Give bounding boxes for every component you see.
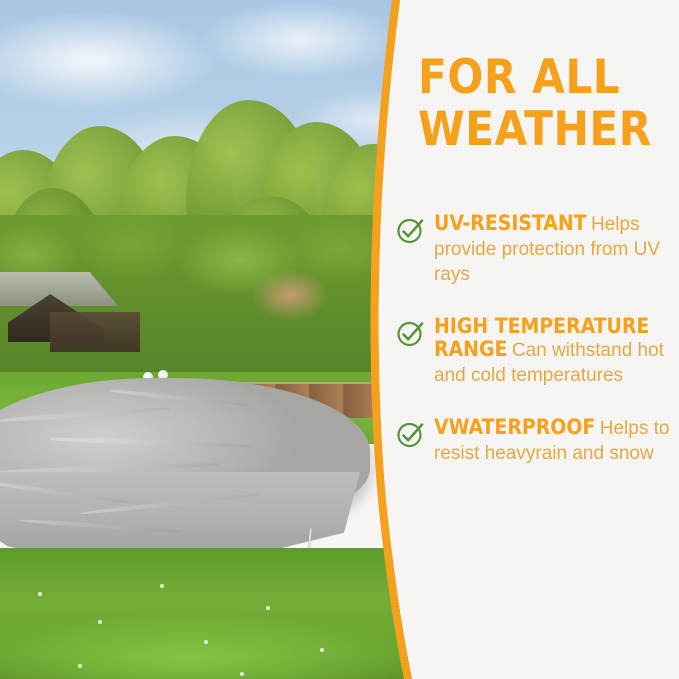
list-item: VWATERPROOF Helps to resist heavyrain an… [396, 416, 679, 466]
headline-line-1: FOR ALL [418, 52, 670, 104]
feature-title: UV-RESISTANT [434, 211, 587, 235]
product-photo [0, 0, 420, 679]
headline-line-2: WEATHER [418, 104, 670, 156]
feature-text: HIGH TEMPERATURE RANGE Can withstand hot… [434, 315, 679, 388]
promo-banner: FOR ALL WEATHER UV-RESISTANT Helps provi… [0, 0, 679, 679]
content-panel: FOR ALL WEATHER UV-RESISTANT Helps provi… [388, 0, 679, 679]
list-item: HIGH TEMPERATURE RANGE Can withstand hot… [396, 315, 679, 388]
check-circle-icon [396, 318, 426, 348]
check-circle-icon [396, 419, 426, 449]
lower-lawn [0, 548, 420, 679]
feature-list: UV-RESISTANT Helps provide protection fr… [396, 212, 679, 466]
page-title: FOR ALL WEATHER [418, 52, 670, 156]
list-item: UV-RESISTANT Helps provide protection fr… [396, 212, 679, 287]
feature-title: VWATERPROOF [434, 415, 595, 439]
feature-text: UV-RESISTANT Helps provide protection fr… [434, 212, 679, 287]
feature-text: VWATERPROOF Helps to resist heavyrain an… [434, 416, 679, 466]
check-circle-icon [396, 215, 426, 245]
garden-shed [0, 272, 130, 350]
